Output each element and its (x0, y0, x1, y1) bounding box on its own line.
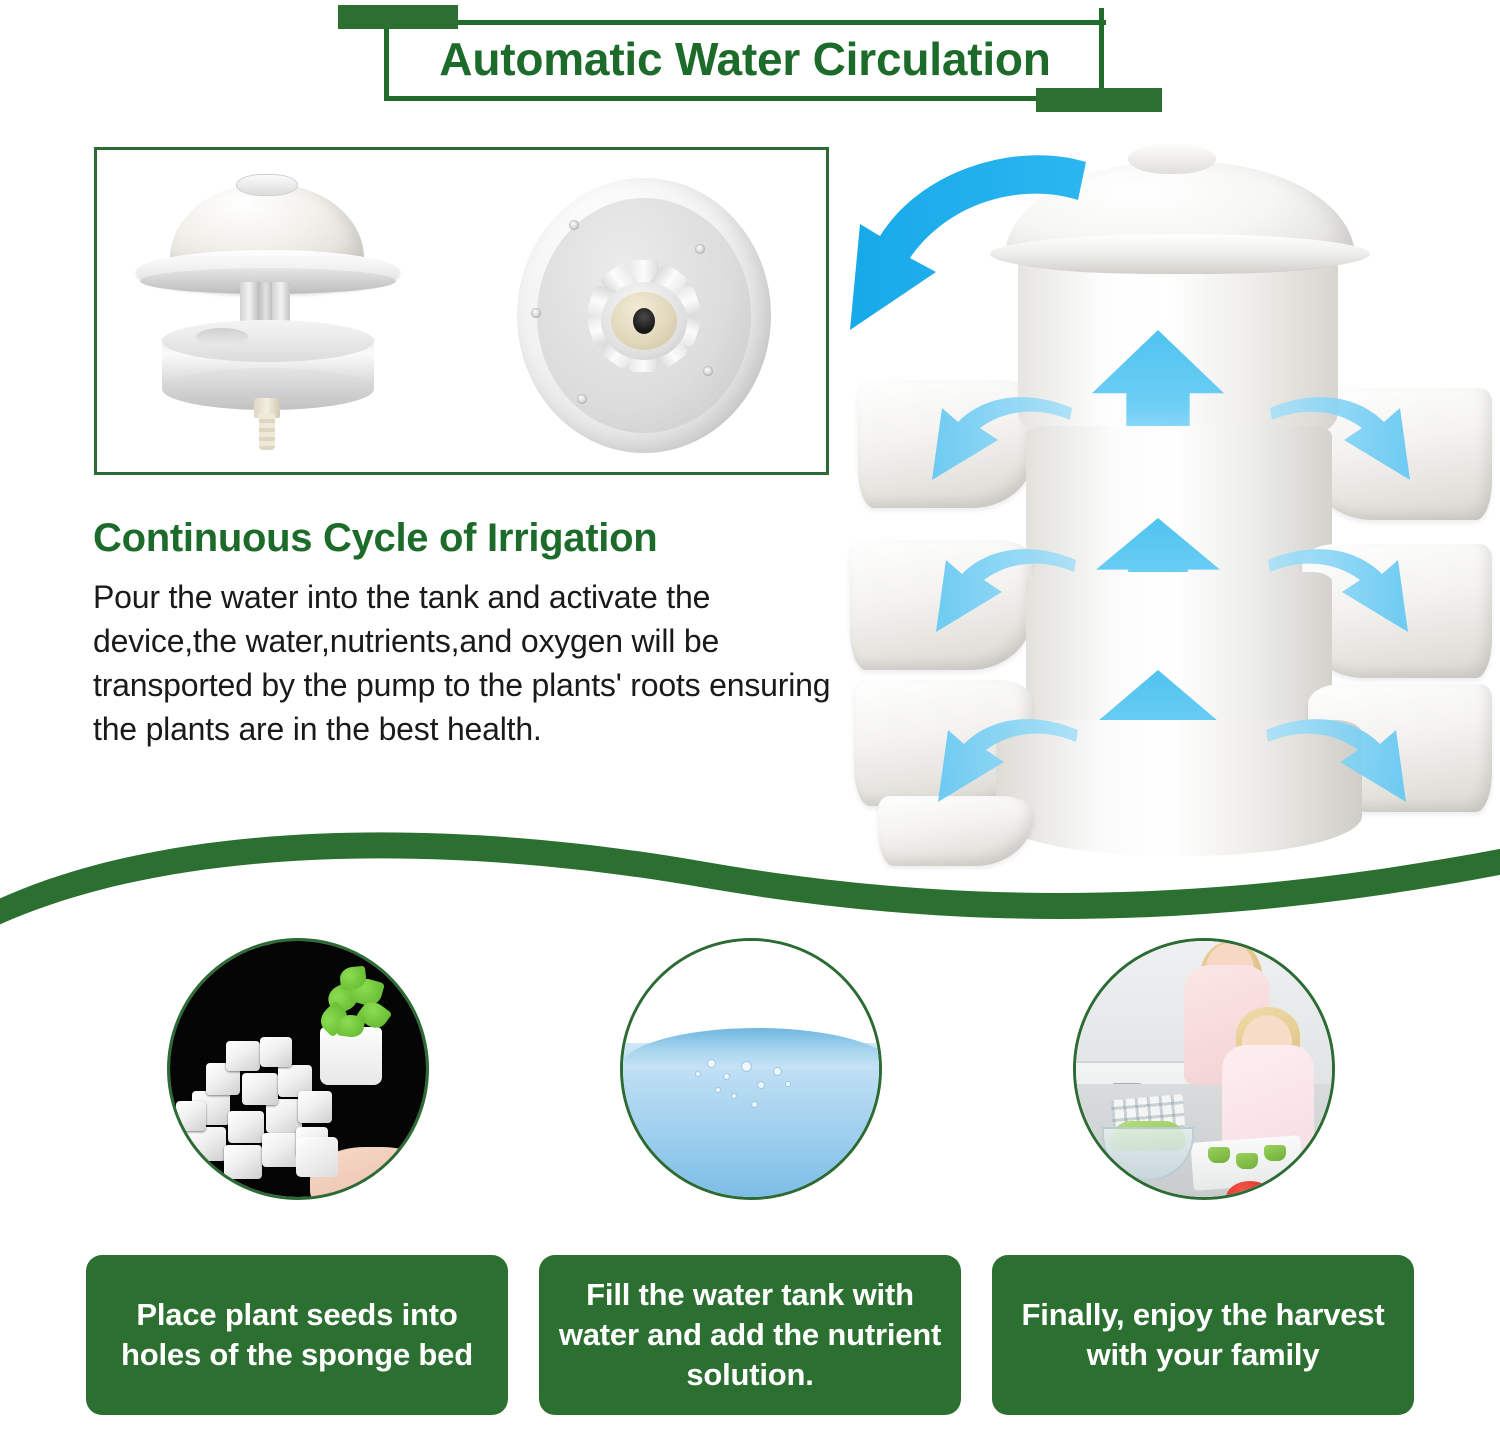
outflow-arrow-right (1268, 549, 1408, 632)
step-image-sponge-cubes (167, 938, 429, 1200)
water-bubble (715, 1087, 721, 1093)
base-plate-screw (695, 244, 705, 254)
step-item: Place plant seeds into holes of the spon… (72, 930, 522, 1431)
tower-circulation-diagram (840, 140, 1500, 870)
chopped-vegetable (1236, 1153, 1258, 1169)
step-caption: Fill the water tank with water and add t… (539, 1255, 961, 1415)
pump-outlet-tube (259, 414, 275, 450)
water-bubble (741, 1061, 752, 1072)
outflow-arrow-left (936, 549, 1076, 632)
green-wave-divider (0, 815, 1500, 925)
water-bubble (785, 1081, 791, 1087)
base-plate-screw (577, 394, 587, 404)
water-flow-curved-arrows (840, 140, 1500, 870)
outflow-arrow-right (1270, 397, 1410, 480)
step-caption: Place plant seeds into holes of the spon… (86, 1255, 508, 1415)
water-bubble (757, 1081, 765, 1089)
feature-copy: Continuous Cycle of Irrigation Pour the … (93, 515, 853, 752)
water-bubble (723, 1073, 730, 1080)
page-header: Automatic Water Circulation (0, 0, 1500, 120)
step-image-water (620, 938, 882, 1200)
water-bubble (731, 1093, 737, 1099)
pump-base-plate-photo (497, 172, 787, 457)
water-bubble (751, 1101, 758, 1108)
sponge-cube (242, 1073, 278, 1105)
sponge-cube (186, 1127, 226, 1161)
pump-base-inlet (196, 328, 248, 346)
sponge-cube (262, 1133, 300, 1167)
step-image-family-kitchen (1073, 938, 1335, 1200)
base-plate-center-hole (633, 308, 655, 334)
outflow-arrow-left (932, 397, 1072, 480)
outflow-arrow-right (1266, 719, 1406, 802)
step-item: Finally, enjoy the harvest with your fam… (978, 930, 1428, 1431)
page-title: Automatic Water Circulation (384, 20, 1106, 98)
chopped-vegetable (1264, 1145, 1286, 1161)
steps-section: Place plant seeds into holes of the spon… (0, 930, 1500, 1431)
sponge-cube (226, 1041, 260, 1071)
step-caption: Finally, enjoy the harvest with your fam… (992, 1255, 1414, 1415)
base-plate-screw (569, 220, 579, 230)
pump-base-top (162, 320, 374, 362)
base-plate-screw (531, 308, 541, 318)
step-item: Fill the water tank with water and add t… (525, 930, 975, 1431)
sponge-cube (224, 1145, 262, 1179)
pump-assembly-photo (132, 172, 452, 457)
sponge-cube (260, 1037, 292, 1067)
feature-heading: Continuous Cycle of Irrigation (93, 515, 853, 561)
feature-body-text: Pour the water into the tank and activat… (93, 575, 853, 752)
water-bubble (695, 1071, 701, 1077)
base-plate-screw (703, 366, 713, 376)
chopped-vegetable (1208, 1147, 1230, 1163)
sponge-cube (298, 1091, 332, 1123)
outflow-arrow-left (938, 719, 1078, 802)
pump-photo-box (94, 147, 829, 475)
sponge-cube (176, 1101, 206, 1131)
pump-top-cap (236, 174, 298, 196)
water-bubble (773, 1067, 782, 1076)
sponge-cube-in-hand (296, 1137, 338, 1177)
sponge-cube (228, 1111, 264, 1143)
water-bubble (707, 1059, 716, 1068)
intake-arrow (850, 155, 1086, 330)
